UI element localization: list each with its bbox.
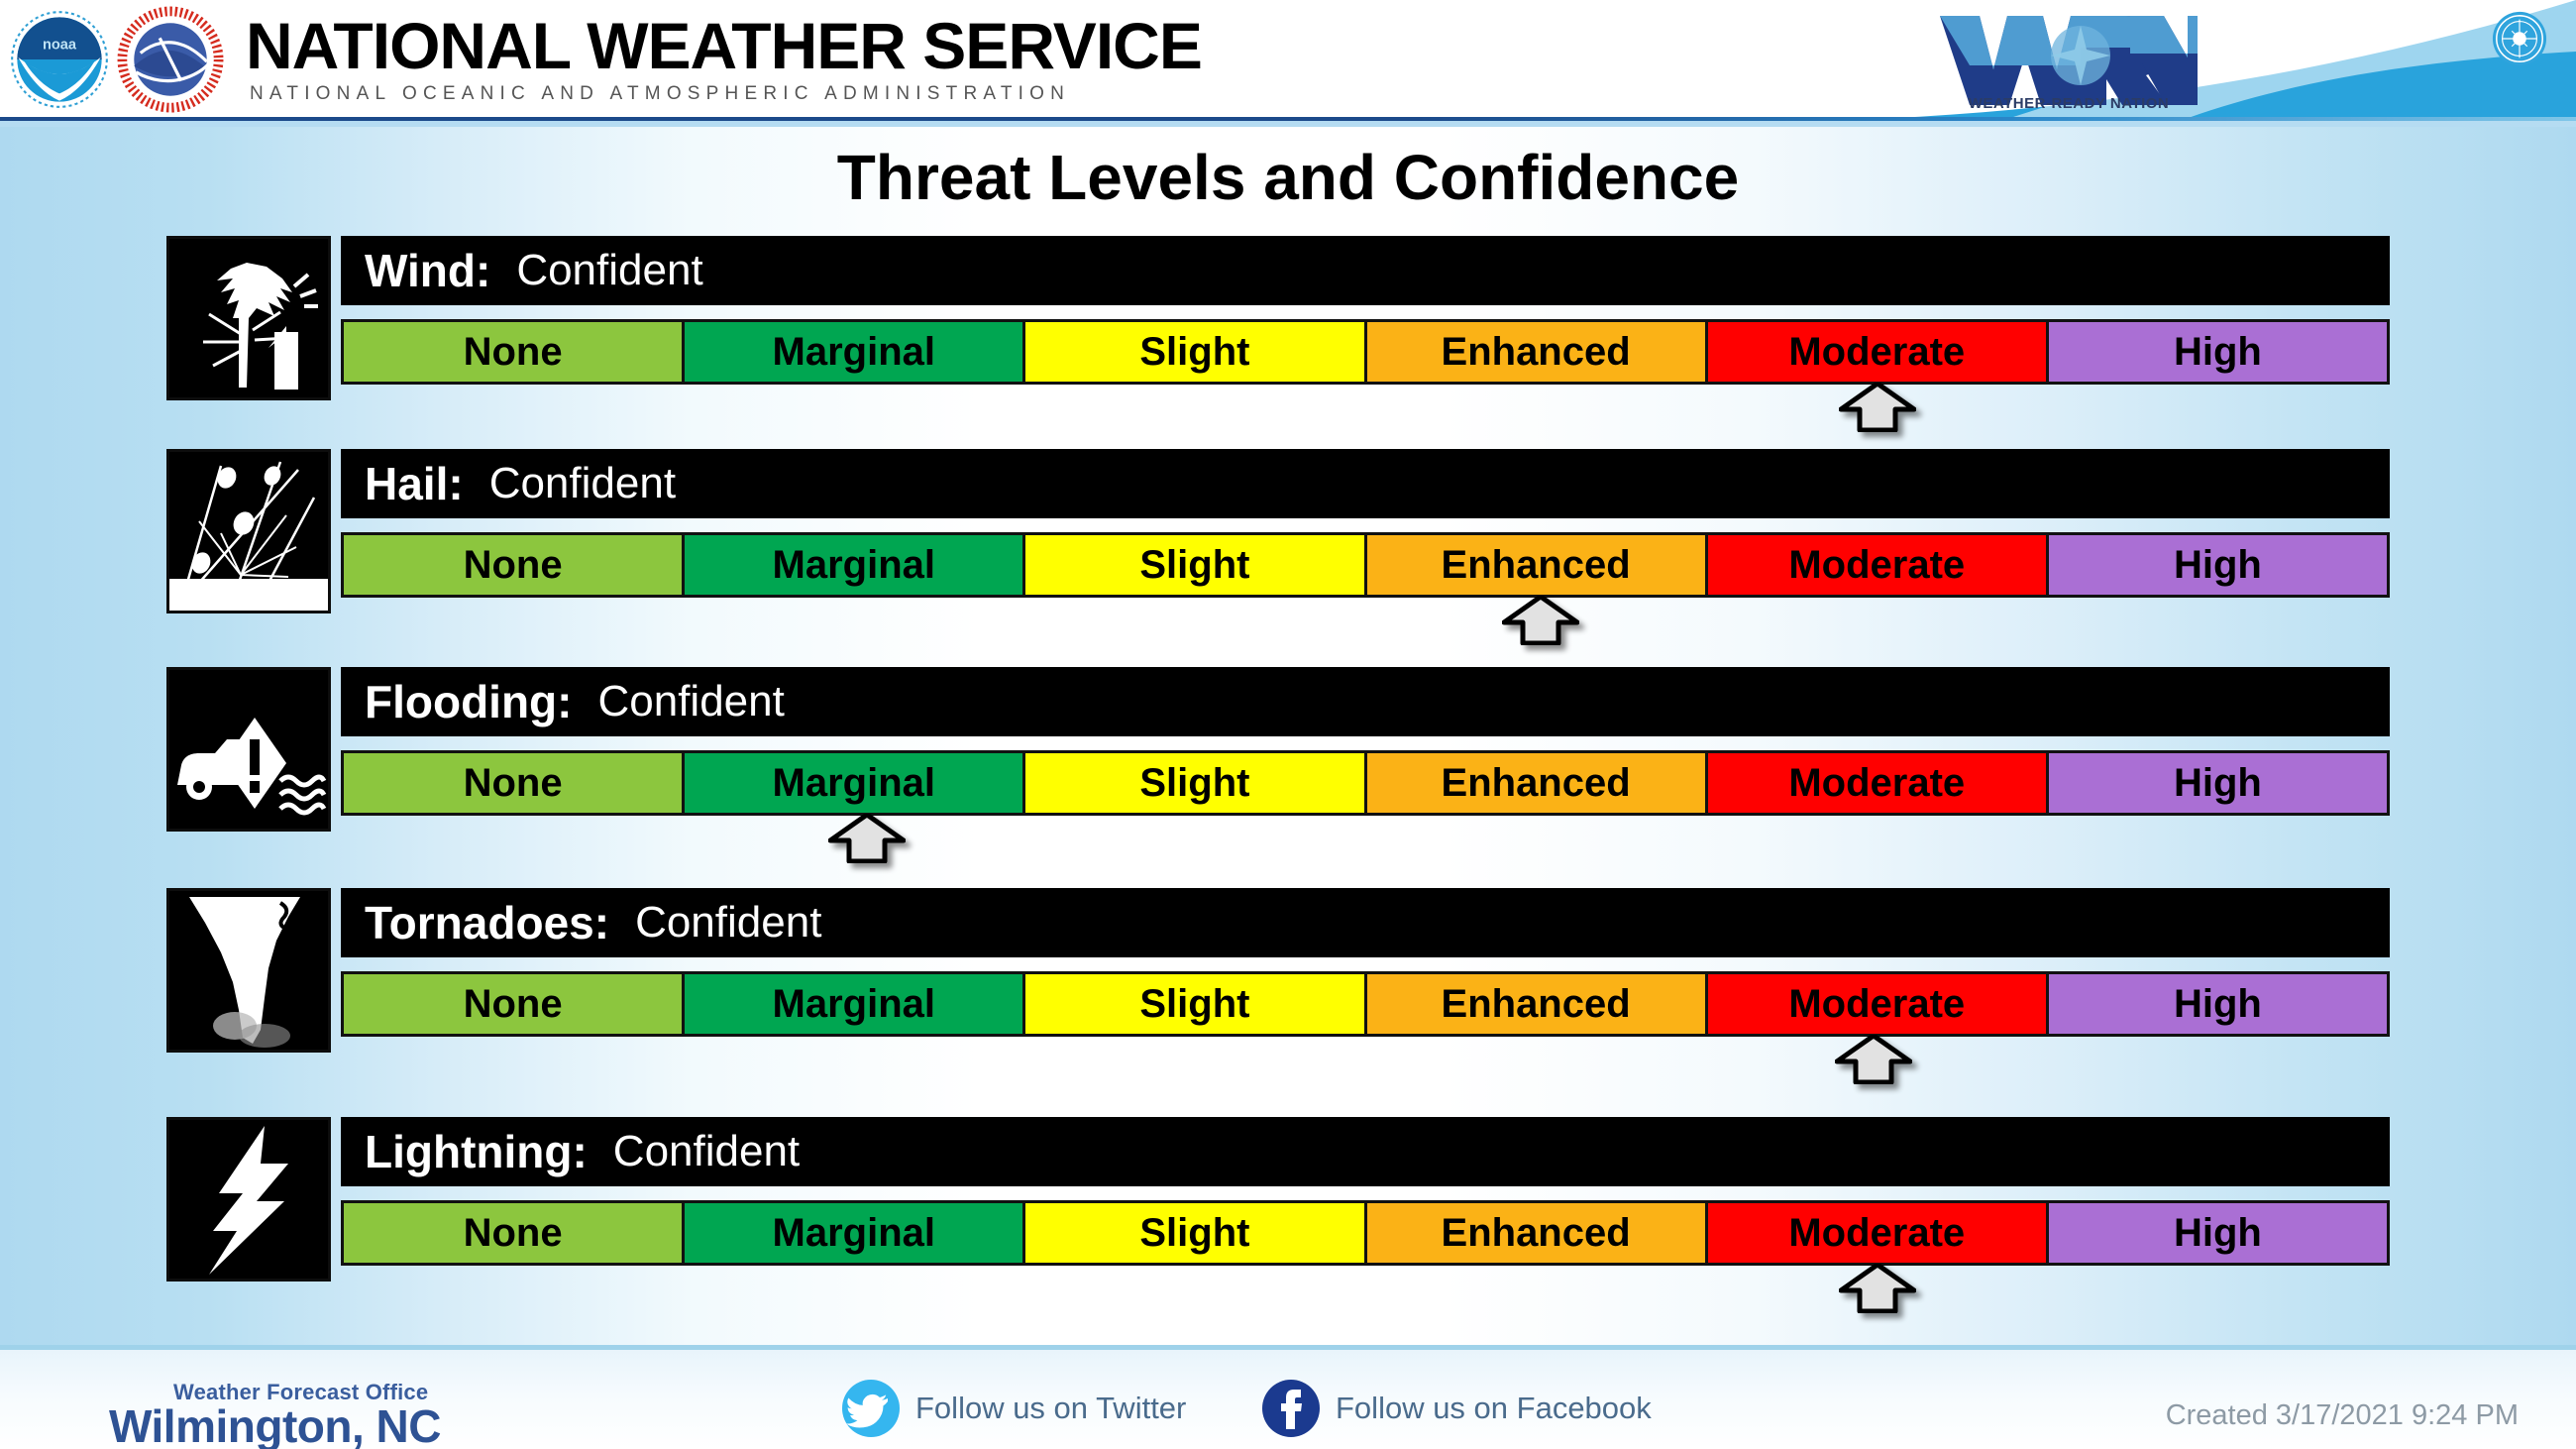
twitter-follow-link[interactable]: Follow us on Twitter xyxy=(840,1378,1186,1439)
page-title: Threat Levels and Confidence xyxy=(0,141,2576,214)
tornadoes-level-high[interactable]: High xyxy=(2049,974,2387,1034)
tornadoes-level-moderate[interactable]: Moderate xyxy=(1708,974,2049,1034)
wind-level-enhanced[interactable]: Enhanced xyxy=(1367,322,1708,382)
flooding-threat-scale: None Marginal Slight Enhanced Moderate H… xyxy=(341,750,2390,816)
twitter-bird-icon xyxy=(840,1378,902,1439)
hail-threat-label: Hail: xyxy=(365,457,464,510)
wind-level-moderate[interactable]: Moderate xyxy=(1708,322,2049,382)
flooding-level-high[interactable]: High xyxy=(2049,753,2387,813)
lightning-selected-level-marker xyxy=(1839,1264,1916,1313)
facebook-f-icon xyxy=(1260,1378,1322,1439)
flooding-threat-label: Flooding: xyxy=(365,675,572,728)
flooding-level-enhanced[interactable]: Enhanced xyxy=(1367,753,1708,813)
wind-selected-level-marker xyxy=(1839,383,1916,432)
flooding-header-bar: Flooding: Confident xyxy=(341,667,2390,736)
agency-subtitle: NATIONAL OCEANIC AND ATMOSPHERIC ADMINIS… xyxy=(250,83,1070,105)
tornadoes-level-marginal[interactable]: Marginal xyxy=(685,974,1025,1034)
hail-level-enhanced[interactable]: Enhanced xyxy=(1367,535,1708,595)
flooding-confidence-label: Confident xyxy=(597,677,784,726)
hail-confidence-label: Confident xyxy=(489,459,676,508)
tornadoes-level-enhanced[interactable]: Enhanced xyxy=(1367,974,1708,1034)
lightning-level-none[interactable]: None xyxy=(344,1203,685,1263)
wrn-tagline: WEATHER-READY NATION xyxy=(1940,95,2198,112)
wind-threat-label: Wind: xyxy=(365,244,490,297)
lightning-threat-scale: None Marginal Slight Enhanced Moderate H… xyxy=(341,1200,2390,1266)
twitter-follow-label: Follow us on Twitter xyxy=(915,1391,1186,1426)
lightning-level-enhanced[interactable]: Enhanced xyxy=(1367,1203,1708,1263)
slide-canvas: noaa NATIONAL WEATHER SERVICE NATIONAL O… xyxy=(0,0,2576,1449)
wind-level-marginal[interactable]: Marginal xyxy=(685,322,1025,382)
hail-stones-icon xyxy=(166,449,331,613)
wind-confidence-label: Confident xyxy=(516,246,702,295)
nws-header-banner: noaa NATIONAL WEATHER SERVICE NATIONAL O… xyxy=(0,0,2576,121)
facebook-follow-label: Follow us on Facebook xyxy=(1336,1391,1652,1426)
hail-level-marginal[interactable]: Marginal xyxy=(685,535,1025,595)
lightning-level-moderate[interactable]: Moderate xyxy=(1708,1203,2049,1263)
flooding-level-slight[interactable]: Slight xyxy=(1025,753,1366,813)
lightning-bolt-icon xyxy=(166,1117,331,1282)
agency-title: NATIONAL WEATHER SERVICE xyxy=(246,10,1202,81)
flooded-car-warning-icon xyxy=(166,667,331,832)
lightning-threat-label: Lightning: xyxy=(365,1125,588,1178)
hail-level-moderate[interactable]: Moderate xyxy=(1708,535,2049,595)
lightning-level-slight[interactable]: Slight xyxy=(1025,1203,1366,1263)
flooding-level-moderate[interactable]: Moderate xyxy=(1708,753,2049,813)
lightning-level-high[interactable]: High xyxy=(2049,1203,2387,1263)
header-divider xyxy=(0,117,2576,121)
tornado-funnel-icon xyxy=(166,888,331,1053)
hail-threat-scale: None Marginal Slight Enhanced Moderate H… xyxy=(341,532,2390,598)
wind-level-slight[interactable]: Slight xyxy=(1025,322,1366,382)
tornadoes-level-none[interactable]: None xyxy=(344,974,685,1034)
nws-seal-icon xyxy=(117,6,224,113)
hail-level-slight[interactable]: Slight xyxy=(1025,535,1366,595)
noaa-seal-icon: noaa xyxy=(8,8,111,111)
lightning-header-bar: Lightning: Confident xyxy=(341,1117,2390,1186)
hail-selected-level-marker xyxy=(1502,596,1579,645)
hail-header-bar: Hail: Confident xyxy=(341,449,2390,518)
wind-header-bar: Wind: Confident xyxy=(341,236,2390,305)
hail-level-high[interactable]: High xyxy=(2049,535,2387,595)
tornadoes-selected-level-marker xyxy=(1835,1035,1912,1084)
tornadoes-threat-label: Tornadoes: xyxy=(365,896,609,949)
wind-blown-tree-icon xyxy=(166,236,331,400)
tornadoes-header-bar: Tornadoes: Confident xyxy=(341,888,2390,957)
svg-text:noaa: noaa xyxy=(43,38,77,54)
flooding-selected-level-marker xyxy=(828,814,906,863)
tornadoes-threat-scale: None Marginal Slight Enhanced Moderate H… xyxy=(341,971,2390,1037)
tornadoes-level-slight[interactable]: Slight xyxy=(1025,974,1366,1034)
office-name-label: Wilmington, NC xyxy=(109,1399,441,1449)
flooding-level-marginal[interactable]: Marginal xyxy=(685,753,1025,813)
lightning-level-marginal[interactable]: Marginal xyxy=(685,1203,1025,1263)
wind-level-none[interactable]: None xyxy=(344,322,685,382)
flooding-level-none[interactable]: None xyxy=(344,753,685,813)
wind-threat-scale: None Marginal Slight Enhanced Moderate H… xyxy=(341,319,2390,385)
hail-level-none[interactable]: None xyxy=(344,535,685,595)
wmo-seal-icon xyxy=(2491,10,2548,67)
created-timestamp: Created 3/17/2021 9:24 PM xyxy=(2166,1399,2519,1432)
lightning-confidence-label: Confident xyxy=(613,1127,800,1176)
tornadoes-confidence-label: Confident xyxy=(635,898,821,947)
wind-level-high[interactable]: High xyxy=(2049,322,2387,382)
facebook-follow-link[interactable]: Follow us on Facebook xyxy=(1260,1378,1652,1439)
